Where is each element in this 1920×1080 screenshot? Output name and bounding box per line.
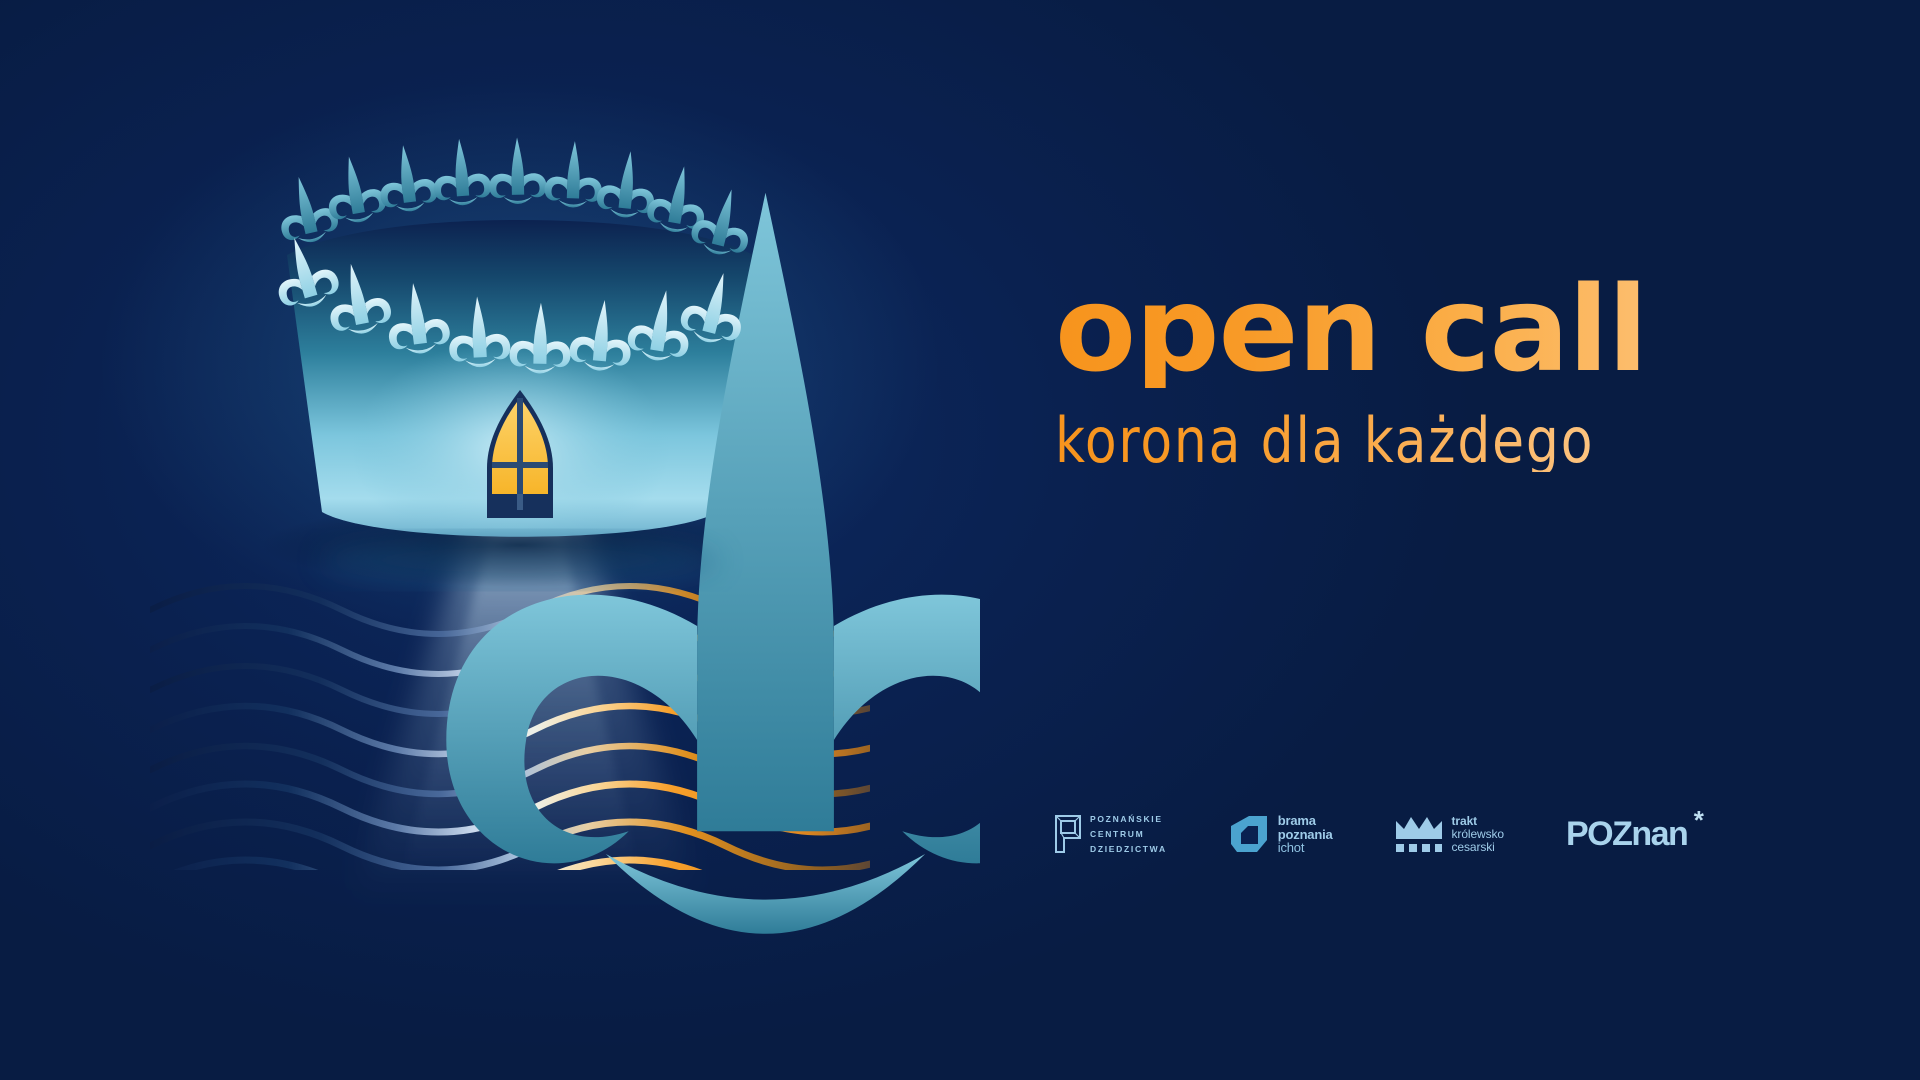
- pcd-monogram-icon: [1055, 815, 1081, 853]
- tkc-line-2: królewsko: [1452, 828, 1504, 841]
- page-subtitle: korona dla każdego: [1055, 410, 1669, 472]
- poznan-text: POZnan: [1566, 815, 1687, 853]
- logo-brama-poznania[interactable]: brama poznania ichot: [1229, 814, 1333, 854]
- copy-block: open call korona dla każdego: [1055, 270, 1715, 472]
- brama-poznania-icon: [1229, 814, 1269, 854]
- pcd-line-2: CENTRUM: [1090, 827, 1167, 842]
- pcd-line-1: POZNAŃSKIE: [1090, 812, 1167, 827]
- page-title: open call: [1055, 270, 1715, 388]
- bp-line-1: brama: [1278, 814, 1333, 827]
- pcd-line-3: DZIEDZICTWA: [1090, 842, 1167, 857]
- poster-canvas: open call korona dla każdego POZNAŃSKIE …: [0, 0, 1920, 1080]
- poznan-wordmark: POZnan*: [1566, 817, 1687, 851]
- crown-mark-icon: [1395, 815, 1443, 853]
- bp-line-2: poznania: [1278, 828, 1333, 841]
- trakt-wordmark: trakt królewsko cesarski: [1452, 815, 1504, 853]
- partner-logo-strip: POZNAŃSKIE CENTRUM DZIEDZICTWA brama poz…: [1055, 812, 1687, 857]
- bp-line-3: ichot: [1278, 841, 1333, 854]
- logo-trakt-krolewsko-cesarski[interactable]: trakt królewsko cesarski: [1395, 815, 1504, 853]
- poznan-star-icon: *: [1694, 807, 1703, 833]
- logo-poznan-city[interactable]: POZnan*: [1566, 817, 1687, 851]
- logo-poznanskie-centrum-dziedzictwa[interactable]: POZNAŃSKIE CENTRUM DZIEDZICTWA: [1055, 812, 1167, 857]
- tkc-line-3: cesarski: [1452, 841, 1504, 854]
- brama-poznania-wordmark: brama poznania ichot: [1278, 814, 1333, 854]
- crown-artwork: [0, 0, 980, 1080]
- pcd-wordmark: POZNAŃSKIE CENTRUM DZIEDZICTWA: [1090, 812, 1167, 857]
